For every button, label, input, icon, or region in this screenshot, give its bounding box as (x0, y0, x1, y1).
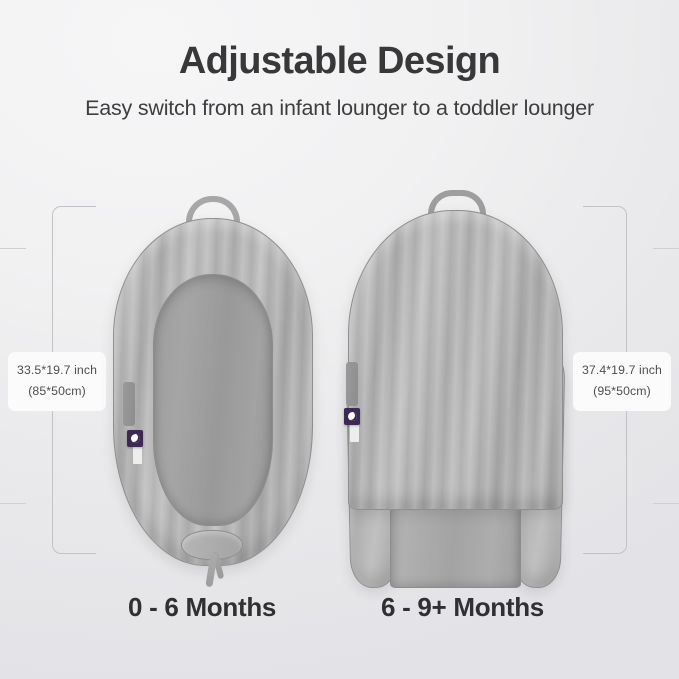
header: Adjustable Design Easy switch from an in… (0, 0, 679, 121)
care-label-infant (133, 444, 142, 464)
infographic-canvas: Adjustable Design Easy switch from an in… (0, 0, 679, 679)
dimension-imperial-toddler: 37.4*19.7 inch (582, 363, 662, 377)
caption-toddler-age-range: 6 - 9+ Months (381, 592, 544, 623)
fabric-gather-texture (349, 211, 562, 509)
dimension-imperial-infant: 33.5*19.7 inch (17, 363, 97, 377)
dimension-label-infant: 33.5*19.7 inch (85*50cm) (8, 352, 106, 411)
care-label-toddler (350, 422, 359, 442)
brand-tag-icon-infant (127, 430, 143, 447)
brand-tag-icon-toddler (344, 408, 360, 425)
page-subtitle: Easy switch from an infant lounger to a … (0, 96, 679, 121)
bracket-stub-right-bottom (653, 503, 679, 504)
page-title: Adjustable Design (0, 42, 679, 82)
side-fabric-flap-infant (123, 382, 135, 426)
dimension-metric-toddler: (95*50cm) (582, 381, 662, 402)
lounger-bumper-toddler (348, 210, 563, 510)
fabric-tie-bow-icon (181, 530, 243, 560)
bracket-stub-left-top (0, 248, 26, 249)
product-image-infant-lounger (113, 196, 313, 578)
caption-infant-age-range: 0 - 6 Months (128, 592, 276, 623)
dimension-metric-infant: (85*50cm) (17, 381, 97, 402)
dimension-label-toddler: 37.4*19.7 inch (95*50cm) (573, 352, 671, 411)
bracket-stub-left-bottom (0, 503, 26, 504)
product-image-toddler-lounger (348, 190, 563, 590)
lounger-mattress-infant (153, 274, 273, 526)
side-fabric-flap-toddler (346, 362, 358, 406)
bracket-stub-right-top (653, 248, 679, 249)
